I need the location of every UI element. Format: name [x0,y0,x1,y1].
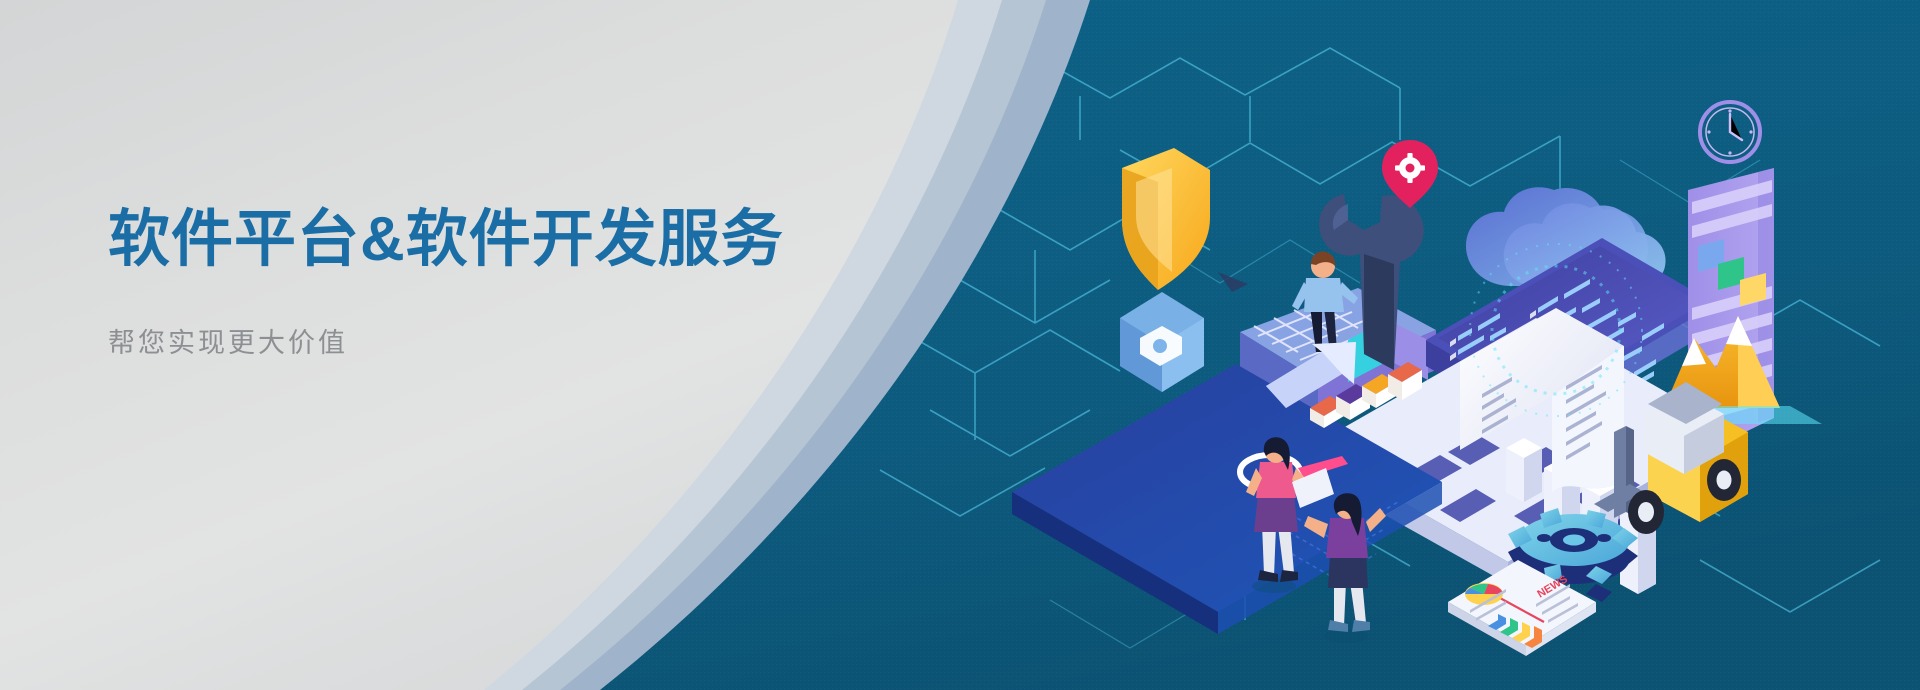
banner-copy: 软件平台&软件开发服务 帮您实现更大价值 [108,205,868,362]
pie-chart-mini [1465,583,1503,605]
clock-icon [1700,102,1760,162]
page-subtitle: 帮您实现更大价值 [108,326,868,361]
hero-banner: NEWS [0,0,1920,690]
page-title: 软件平台&软件开发服务 [108,205,868,274]
